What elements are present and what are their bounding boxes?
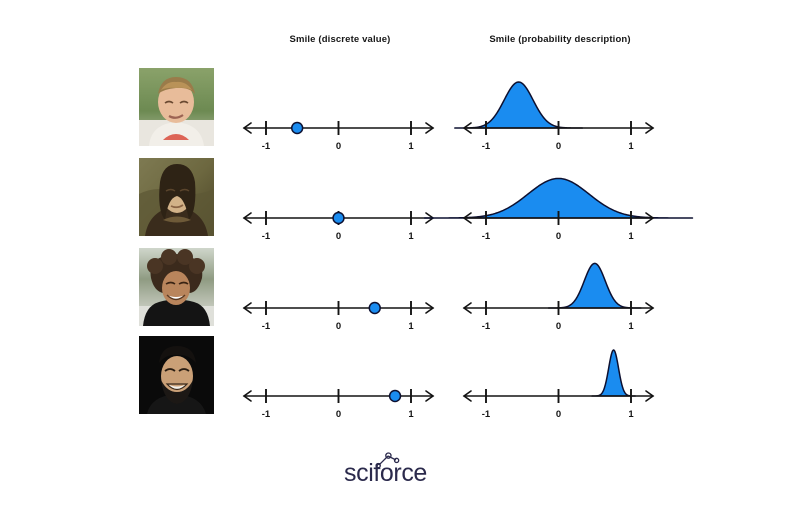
photo-thumbnail [139, 68, 214, 146]
axis-tick-label: 0 [336, 141, 341, 152]
value-dot-fill [370, 303, 379, 312]
figure-row: -101-101 [0, 66, 786, 150]
axis-tick-label: 0 [556, 141, 561, 152]
photo-sad-boy-green-background [139, 68, 214, 146]
axis-tick-label: -1 [482, 141, 491, 152]
value-dot-fill [334, 213, 343, 222]
axis-tick-label: 0 [556, 231, 561, 242]
axis-tick-label: 0 [336, 409, 341, 420]
figure-row: -101-101 [0, 334, 786, 418]
figure-row: -101-101 [0, 246, 786, 330]
axis-tick-label: 1 [408, 409, 414, 420]
gaussian-curve [592, 350, 635, 396]
gaussian-curve [455, 82, 583, 128]
axis-tick-label: 0 [336, 231, 341, 242]
axis-tick-label: -1 [262, 141, 271, 152]
axis-tick-label: -1 [482, 409, 491, 420]
axis-tick-label: -1 [482, 321, 491, 332]
discrete-value-plot: -101 [238, 156, 438, 240]
sciforce-logo: sciforce [344, 452, 444, 486]
logo-wordmark: sciforce [344, 459, 427, 486]
photo-laughing-bearded-man [139, 336, 214, 414]
axis-tick-label: 1 [628, 321, 634, 332]
axis-tick-label: -1 [482, 231, 491, 242]
axis-tick-label: 0 [556, 409, 561, 420]
photo-thumbnail [139, 336, 214, 414]
axis-tick-label: 1 [408, 321, 414, 332]
axis-tick-label: 0 [556, 321, 561, 332]
figure-row: -101-101 [0, 156, 786, 240]
value-dot-fill [292, 123, 301, 132]
photo-thumbnail [139, 248, 214, 326]
smile-probability-figure: Smile (discrete value) Smile (probabilit… [0, 0, 786, 505]
axis-tick-label: -1 [262, 231, 271, 242]
axis-tick-label: 1 [628, 409, 634, 420]
value-dot-fill [390, 391, 399, 400]
photo-smiling-child-curly-hair [139, 248, 214, 326]
probability-distribution-plot: -101 [458, 156, 658, 240]
probability-distribution-plot: -101 [458, 66, 658, 150]
axis-tick-label: 1 [408, 231, 414, 242]
column-header-probability: Smile (probability description) [465, 34, 655, 45]
axis-tick-label: 1 [628, 231, 634, 242]
probability-distribution-plot: -101 [458, 334, 658, 418]
gaussian-curve [549, 263, 642, 308]
discrete-value-plot: -101 [238, 246, 438, 330]
discrete-value-plot: -101 [238, 66, 438, 150]
discrete-value-plot: -101 [238, 334, 438, 418]
axis-tick-label: 1 [408, 141, 414, 152]
photo-mona-lisa-painting [139, 158, 214, 236]
axis-tick-label: -1 [262, 321, 271, 332]
photo-thumbnail [139, 158, 214, 236]
axis-tick-label: 0 [336, 321, 341, 332]
axis-tick-label: 1 [628, 141, 634, 152]
probability-distribution-plot: -101 [458, 246, 658, 330]
axis-tick-label: -1 [262, 409, 271, 420]
column-header-discrete: Smile (discrete value) [245, 34, 435, 45]
